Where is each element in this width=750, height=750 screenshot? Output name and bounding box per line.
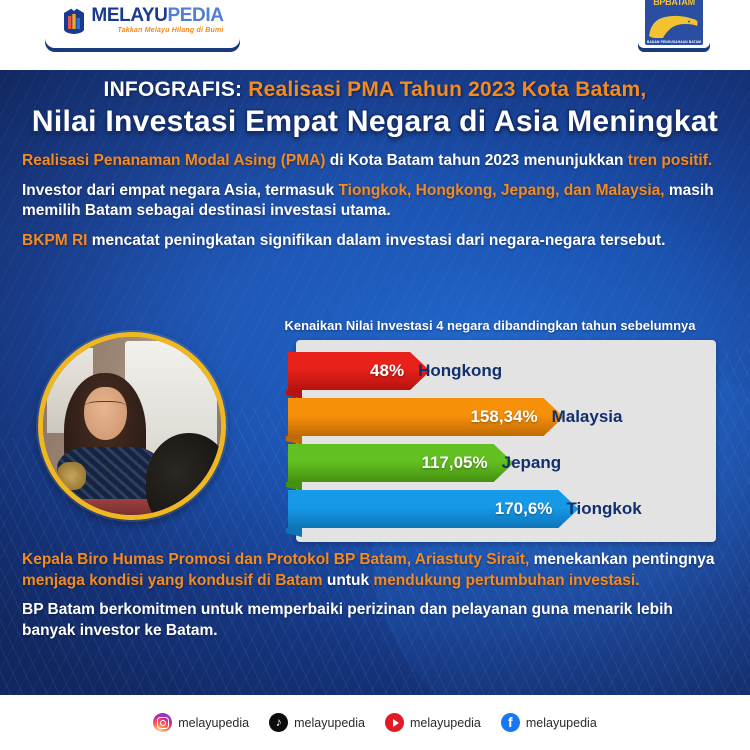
paragraph-1: Realisasi Penanaman Modal Asing (PMA) di… [22, 151, 728, 172]
closing-paragraphs: Kepala Biro Humas Promosi dan Protokol B… [0, 550, 750, 650]
social-account-youtube[interactable]: melayupedia [385, 713, 481, 732]
bp-batam-bird-icon [645, 6, 703, 42]
chart-bar-label: Jepang [502, 444, 562, 482]
photo-glasses [85, 401, 126, 413]
text-run-0: BP Batam berkomitmen untuk memperbaiki p… [22, 601, 673, 639]
chart-bar-row: 170,6%Tiongkok [286, 490, 736, 534]
title-eyebrow: INFOGRAFIS: Realisasi PMA Tahun 2023 Kot… [12, 78, 738, 102]
social-account-tiktok[interactable]: ♪ melayupedia [269, 713, 365, 732]
chart-bar-value: 170,6% [495, 499, 553, 519]
chart-title: Kenaikan Nilai Investasi 4 negara diband… [240, 318, 740, 333]
bp-batam-emblem: BPBATAM BADAN PENGUSAHAAN BATAM [645, 0, 703, 45]
text-run-1: Tiongkok, Hongkong, Jepang, dan Malaysia… [338, 182, 664, 199]
text-run-2: menjaga kondisi yang kondusif di Batam [22, 572, 323, 589]
bp-batam-subtext: BADAN PENGUSAHAAN BATAM [645, 40, 703, 44]
chart-bar-label: Tiongkok [566, 490, 641, 528]
social-account-instagram[interactable]: melayupedia [153, 713, 249, 732]
text-run-0: Kepala Biro Humas Promosi dan Protokol B… [22, 551, 529, 568]
chart-bar-row: 158,34%Malaysia [286, 398, 736, 442]
chart-bar-row: 117,05%Jepang [286, 444, 736, 488]
melayupedia-logo[interactable]: MELAYUPEDIA Takkan Melayu Hilang di Bumi [45, 0, 240, 48]
chart-bar-jepang: 117,05% [288, 444, 514, 482]
infographic-page: MELAYUPEDIA Takkan Melayu Hilang di Bumi… [0, 0, 750, 750]
bp-batam-logo[interactable]: BPBATAM BADAN PENGUSAHAAN BATAM [638, 0, 710, 48]
social-footer: melayupedia ♪ melayupedia melayupedia f … [0, 695, 750, 750]
instagram-handle: melayupedia [178, 716, 249, 730]
text-run-4: mendukung pertumbuhan investasi. [373, 572, 639, 589]
text-run-1: menekankan pentingnya [529, 551, 714, 568]
chart-bar-value: 158,34% [470, 407, 537, 427]
tiktok-icon: ♪ [269, 713, 288, 732]
text-run-2: tren positif. [628, 152, 712, 169]
chart-bar-value: 117,05% [421, 453, 487, 473]
logo-name-bold: MELAYU [91, 5, 167, 26]
title-block: INFOGRAFIS: Realisasi PMA Tahun 2023 Kot… [0, 60, 750, 139]
photo-gold-pattern [57, 462, 85, 490]
page-title: Nilai Investasi Empat Negara di Asia Men… [12, 105, 738, 139]
youtube-handle: melayupedia [410, 716, 481, 730]
main-content: INFOGRAFIS: Realisasi PMA Tahun 2023 Kot… [0, 60, 750, 695]
text-run-0: Realisasi Penanaman Modal Asing (PMA) [22, 152, 330, 169]
youtube-icon [385, 713, 404, 732]
melayupedia-m-mark-icon [61, 5, 87, 35]
chart-bar-row: 48%Hongkong [286, 352, 736, 396]
chart-bars: 48%Hongkong158,34%Malaysia117,05%Jepang1… [286, 352, 736, 542]
social-account-facebook[interactable]: f melayupedia [501, 713, 597, 732]
text-run-1: mencatat peningkatan signifikan dalam in… [92, 232, 666, 249]
text-run-1: di Kota Batam tahun 2023 menunjukkan [330, 152, 628, 169]
facebook-handle: melayupedia [526, 716, 597, 730]
photo-foreground-person [146, 433, 226, 520]
chart-bar-label: Malaysia [552, 398, 623, 436]
speaker-photo [38, 332, 226, 520]
text-run-0: Investor dari empat negara Asia, termasu… [22, 182, 338, 199]
chart-bar-hongkong: 48% [288, 352, 430, 390]
title-eyebrow-highlight: Realisasi PMA Tahun 2023 Kota Batam, [248, 78, 646, 101]
paragraph-2: Investor dari empat negara Asia, termasu… [22, 181, 728, 222]
text-run-3: untuk [323, 572, 374, 589]
paragraph-5: BP Batam berkomitmen untuk memperbaiki p… [22, 600, 728, 641]
chart-bar-label: Hongkong [418, 352, 502, 390]
chart-bar-value: 48% [370, 361, 404, 381]
chart-bar-tiongkok: 170,6% [288, 490, 578, 528]
text-run-0: BKPM RI [22, 232, 92, 249]
header-bar: MELAYUPEDIA Takkan Melayu Hilang di Bumi… [0, 0, 750, 70]
facebook-icon: f [501, 713, 520, 732]
tiktok-handle: melayupedia [294, 716, 365, 730]
logo-name-light: PEDIA [168, 5, 224, 26]
paragraph-3: BKPM RI mencatat peningkatan signifikan … [22, 231, 728, 252]
chart-bar-malaysia: 158,34% [288, 398, 564, 436]
title-eyebrow-plain: INFOGRAFIS: [104, 78, 243, 101]
logo-tagline: Takkan Melayu Hilang di Bumi [91, 27, 223, 34]
photo-face [84, 387, 127, 440]
paragraph-4: Kepala Biro Humas Promosi dan Protokol B… [22, 550, 728, 591]
intro-paragraphs: Realisasi Penanaman Modal Asing (PMA) di… [0, 139, 750, 251]
chart-bar-fold [286, 528, 302, 537]
instagram-icon [153, 713, 172, 732]
